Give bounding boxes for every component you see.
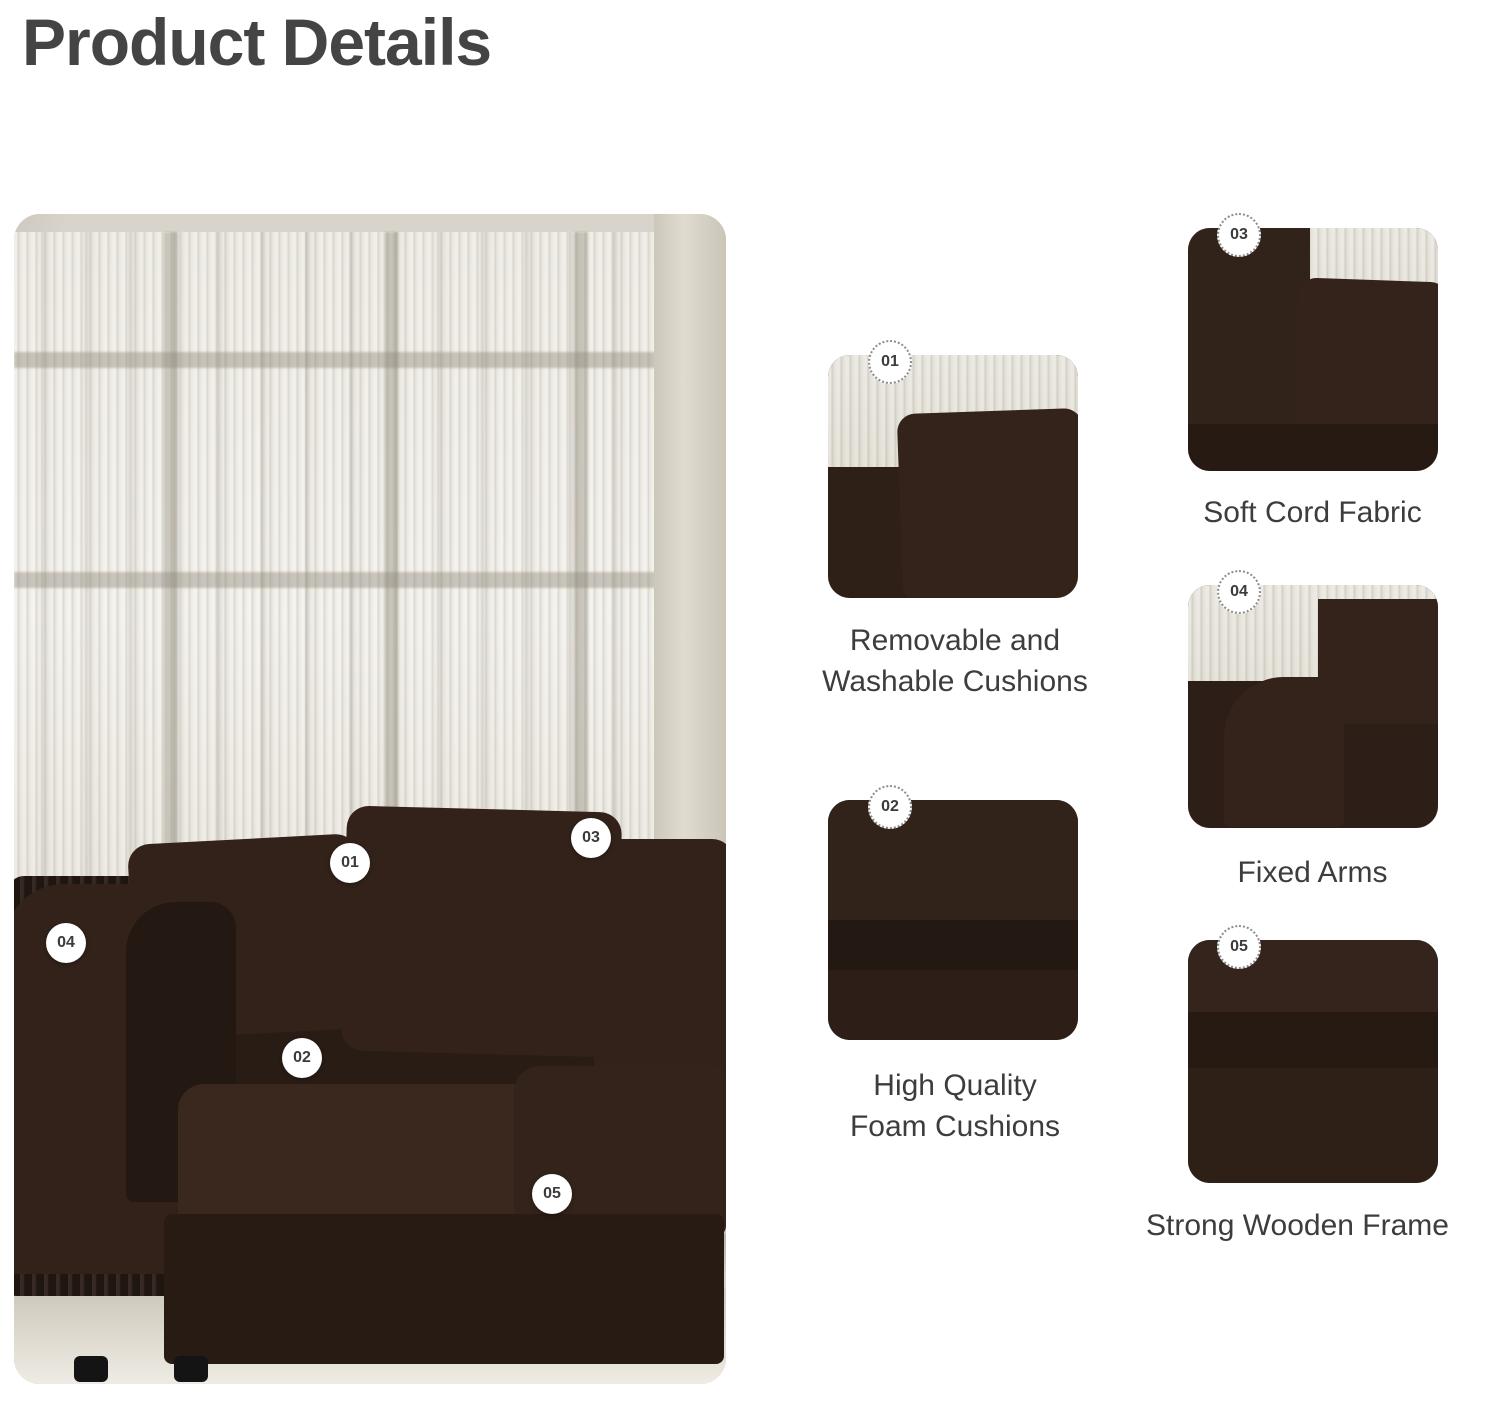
sofa-base-skirt — [164, 1214, 724, 1364]
hero-marker-05[interactable]: 05 — [532, 1174, 572, 1214]
detail-badge-01[interactable]: 01 — [868, 340, 912, 384]
sofa-foot — [74, 1356, 108, 1382]
detail-card-01-image — [828, 355, 1078, 598]
detail-badge-02[interactable]: 02 — [868, 785, 912, 829]
detail-caption-05: Strong Wooden Frame — [1095, 1205, 1500, 1246]
detail-caption-03: Soft Cord Fabric — [1125, 492, 1500, 533]
scatter-cushion — [1293, 277, 1438, 447]
page-title: Product Details — [22, 4, 491, 80]
sofa-seat-fabric — [1188, 424, 1438, 471]
detail-caption-03-line1: Soft Cord Fabric — [1125, 492, 1500, 533]
detail-card-05-image — [1188, 940, 1438, 1183]
detail-badge-05[interactable]: 05 — [1217, 925, 1261, 969]
detail-card-02-image — [828, 800, 1078, 1040]
detail-caption-04-line1: Fixed Arms — [1125, 852, 1500, 893]
detail-caption-01-line1: Removable and — [790, 620, 1120, 661]
hero-marker-03[interactable]: 03 — [571, 818, 611, 858]
foam-cushion-edge — [828, 920, 1078, 972]
sofa-frame-edge — [1188, 1012, 1438, 1070]
detail-badge-03[interactable]: 03 — [1217, 213, 1261, 257]
detail-caption-04: Fixed Arms — [1125, 852, 1500, 893]
detail-card-03-image — [1188, 228, 1438, 471]
sofa-arm-fabric — [1224, 677, 1344, 827]
window-mullion-horizontal — [14, 572, 662, 588]
scatter-cushion — [594, 839, 726, 1084]
detail-caption-05-line1: Strong Wooden Frame — [1095, 1205, 1500, 1246]
main-product-photo: 01 02 03 04 05 — [14, 214, 726, 1384]
sofa-back-fabric — [1188, 228, 1310, 428]
detail-caption-02-line2: Foam Cushions — [790, 1106, 1120, 1147]
sofa-base-fabric — [828, 970, 1078, 1040]
hero-marker-02[interactable]: 02 — [282, 1038, 322, 1078]
detail-badge-04[interactable]: 04 — [1217, 570, 1261, 614]
foam-cushion-top — [828, 800, 1078, 925]
scatter-cushion — [897, 408, 1078, 598]
detail-card-04-image — [1188, 585, 1438, 828]
window-mullion-horizontal — [14, 352, 662, 368]
hero-marker-01[interactable]: 01 — [330, 843, 370, 883]
detail-caption-02: High Quality Foam Cushions — [790, 1065, 1120, 1148]
detail-caption-01-line2: Washable Cushions — [790, 661, 1120, 702]
detail-caption-01: Removable and Washable Cushions — [790, 620, 1120, 703]
detail-caption-02-line1: High Quality — [790, 1065, 1120, 1106]
sofa-foot — [174, 1356, 208, 1382]
wooden-frame-base — [1188, 1068, 1438, 1183]
hero-marker-04[interactable]: 04 — [46, 923, 86, 963]
